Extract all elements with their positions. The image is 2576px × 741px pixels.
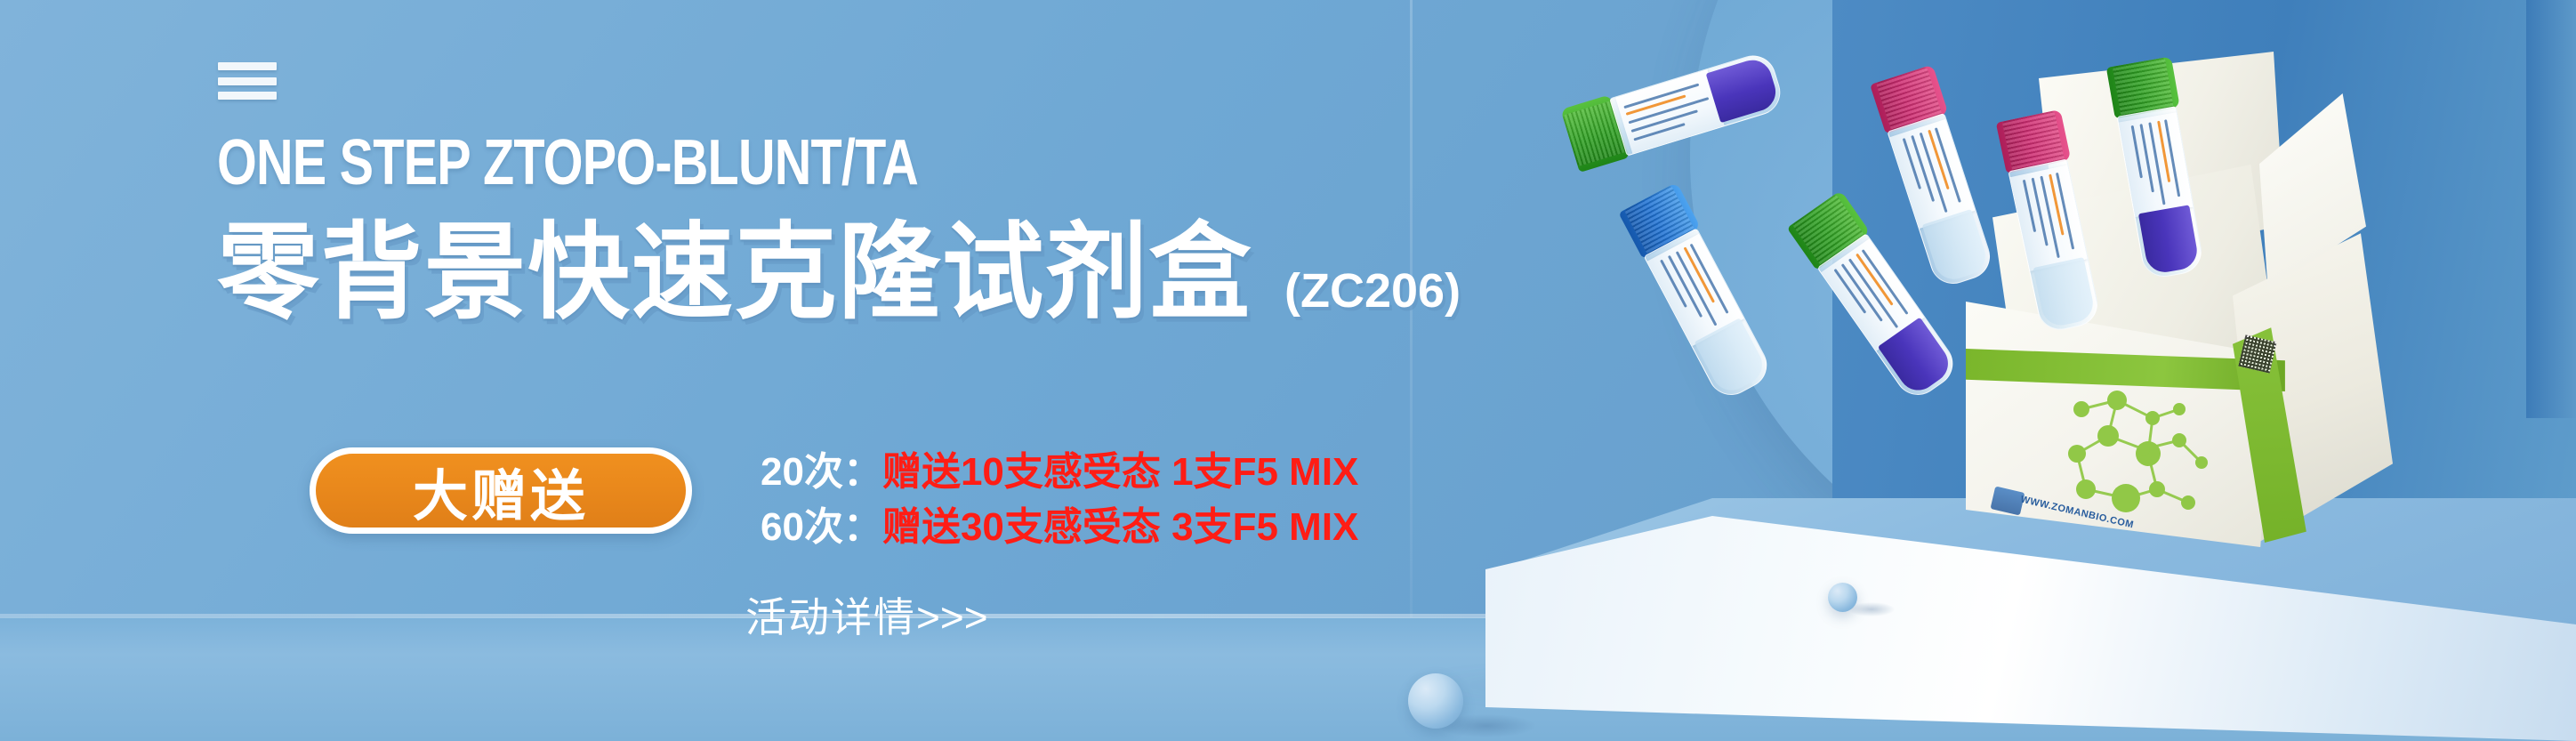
promo-offer-row: 60次：赠送30支感受态 3支F5 MIX — [761, 500, 1358, 555]
tube-bp-control-tube — [1617, 182, 1781, 410]
activity-detail-link[interactable]: 活动详情>>> — [745, 585, 988, 644]
tube-body — [1644, 228, 1775, 403]
promo-gift-button[interactable]: 大赠送 — [310, 447, 692, 534]
product-artwork: WWW.ZOMANBIO.COM — [1548, 27, 2576, 578]
chevron-right-icon: >>> — [916, 594, 988, 640]
promo-offer-gift: 赠送30支感受态 3支F5 MIX — [882, 505, 1358, 549]
tube-label — [2119, 112, 2194, 217]
tube-fluid — [2138, 205, 2200, 275]
headline-chinese-row: 零背景快速克隆试剂盒 (ZC206) — [217, 221, 1461, 326]
tube-body — [1609, 50, 1786, 157]
product-code: (ZC206) — [1284, 263, 1461, 326]
promo-offer-count: 20次： — [761, 450, 882, 494]
tube-pcr-master-mix-tube — [1560, 44, 1792, 174]
hamburger-menu-icon[interactable] — [218, 62, 277, 100]
decor-sphere-large — [1408, 673, 1463, 729]
hamburger-bar — [218, 77, 277, 85]
tube-fluid — [1706, 55, 1781, 123]
headline-chinese: 零背景快速克隆试剂盒 — [217, 221, 1252, 326]
hamburger-bar — [218, 92, 277, 100]
decor-sphere-small — [1828, 583, 1857, 612]
molecule-graphic-icon — [2046, 387, 2224, 520]
tube-fluid — [2033, 257, 2097, 329]
promo-offer-list: 20次：赠送10支感受态 1支F5 MIX 60次：赠送30支感受态 3支F5 … — [761, 445, 1358, 555]
promo-offer-gift: 赠送10支感受态 1支F5 MIX — [882, 450, 1358, 494]
activity-detail-label: 活动详情 — [745, 594, 916, 640]
promo-offer-count: 60次： — [761, 505, 882, 549]
hamburger-bar — [218, 62, 277, 70]
promo-banner: WWW.ZOMANBIO.COM — [0, 0, 2576, 741]
promo-gift-button-label: 大赠送 — [413, 451, 589, 531]
promo-offer-row: 20次：赠送10支感受态 1支F5 MIX — [761, 445, 1358, 500]
headline-english: ONE STEP ZTOPO-BLUNT/TA — [217, 126, 918, 199]
